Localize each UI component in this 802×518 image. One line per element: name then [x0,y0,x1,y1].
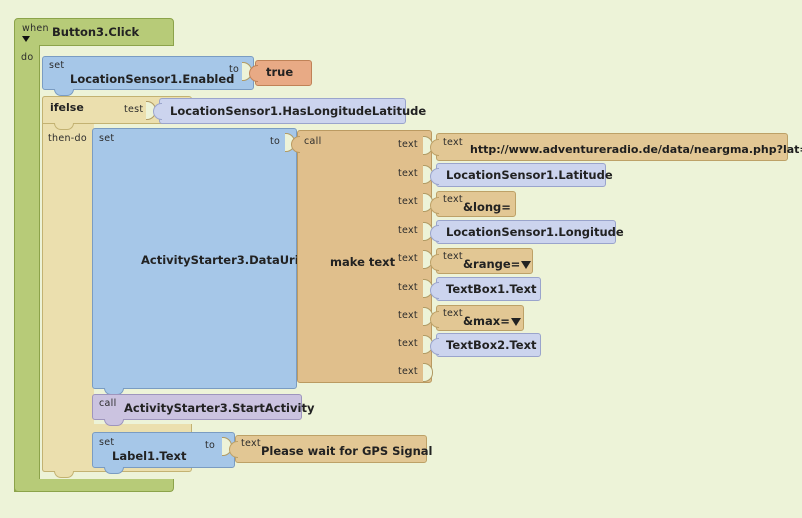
label1-property-name: Label1.Text [112,449,186,463]
maketext-title: make text [330,255,395,269]
when-keyword: when [22,23,49,34]
getter-latitude-label: LocationSensor1.Latitude [446,168,613,182]
event-block-foot [14,479,174,492]
text-value-url: http://www.adventureradio.de/data/neargm… [470,143,802,156]
collapse-triangle-icon[interactable] [22,36,30,42]
getter-textbox2-label: TextBox2.Text [446,338,537,352]
getter-haslonglat-label: LocationSensor1.HasLongitudeLatitude [170,104,426,118]
set-keyword: set [49,60,64,71]
event-do-label: do [21,52,33,63]
startactivity-name: ActivityStarter3.StartActivity [124,401,314,415]
text-value-max: &max= [463,314,521,328]
maketext-socket-label-0: text [398,139,418,150]
text-value-range-string: &range= [463,257,520,271]
setter-top-notch [54,89,74,96]
control-block-ifelse[interactable] [42,96,94,472]
text-inner-label-gps: text [241,438,261,449]
text-value-max-string: &max= [463,314,510,328]
datauri-set-keyword: set [99,133,114,144]
startactivity-call-keyword: call [99,398,117,409]
text-value-long: &long= [463,200,511,214]
ifelse-test-label: test [124,104,143,115]
empty-socket-triangle-icon [521,261,531,269]
maketext-socket-label-2: text [398,196,418,207]
maketext-socket-label-3: text [398,225,418,236]
text-inner-label-long: text [443,194,463,205]
event-block-title: Button3.Click [52,25,139,39]
maketext-socket-label-5: text [398,282,418,293]
label1-top-notch [104,467,124,474]
empty-socket-triangle-icon-2 [511,318,521,326]
maketext-socket-label-7: text [398,338,418,349]
getter-longitude-label: LocationSensor1.Longitude [446,225,624,239]
label1-set-keyword: set [99,437,114,448]
datauri-property-name: ActivityStarter3.DataUri [141,253,299,267]
ifelse-then-label: then-do [48,133,87,144]
maketext-socket-label-1: text [398,168,418,179]
setter-to-label: to [229,64,239,75]
getter-textbox1-label: TextBox1.Text [446,282,537,296]
text-inner-label-url: text [443,137,463,148]
datauri-to-label: to [270,136,280,147]
maketext-socket-label-4: text [398,253,418,264]
blocks-workspace[interactable]: when Button3.Click do set LocationSensor… [0,0,802,518]
text-value-range: &range= [463,257,531,271]
maketext-call-keyword: call [304,136,322,147]
ifelse-bottom-notch [54,471,74,478]
true-label: true [266,65,293,79]
text-inner-label-max: text [443,308,463,319]
text-inner-label-range: text [443,251,463,262]
text-value-gps: Please wait for GPS Signal [261,444,432,458]
label1-to-label: to [205,440,215,451]
setter-property-name: LocationSensor1.Enabled [70,72,234,86]
maketext-socket-label-8: text [398,366,418,377]
maketext-socket-label-6: text [398,310,418,321]
event-block-spine [14,45,40,492]
ifelse-keyword: ifelse [50,101,84,114]
